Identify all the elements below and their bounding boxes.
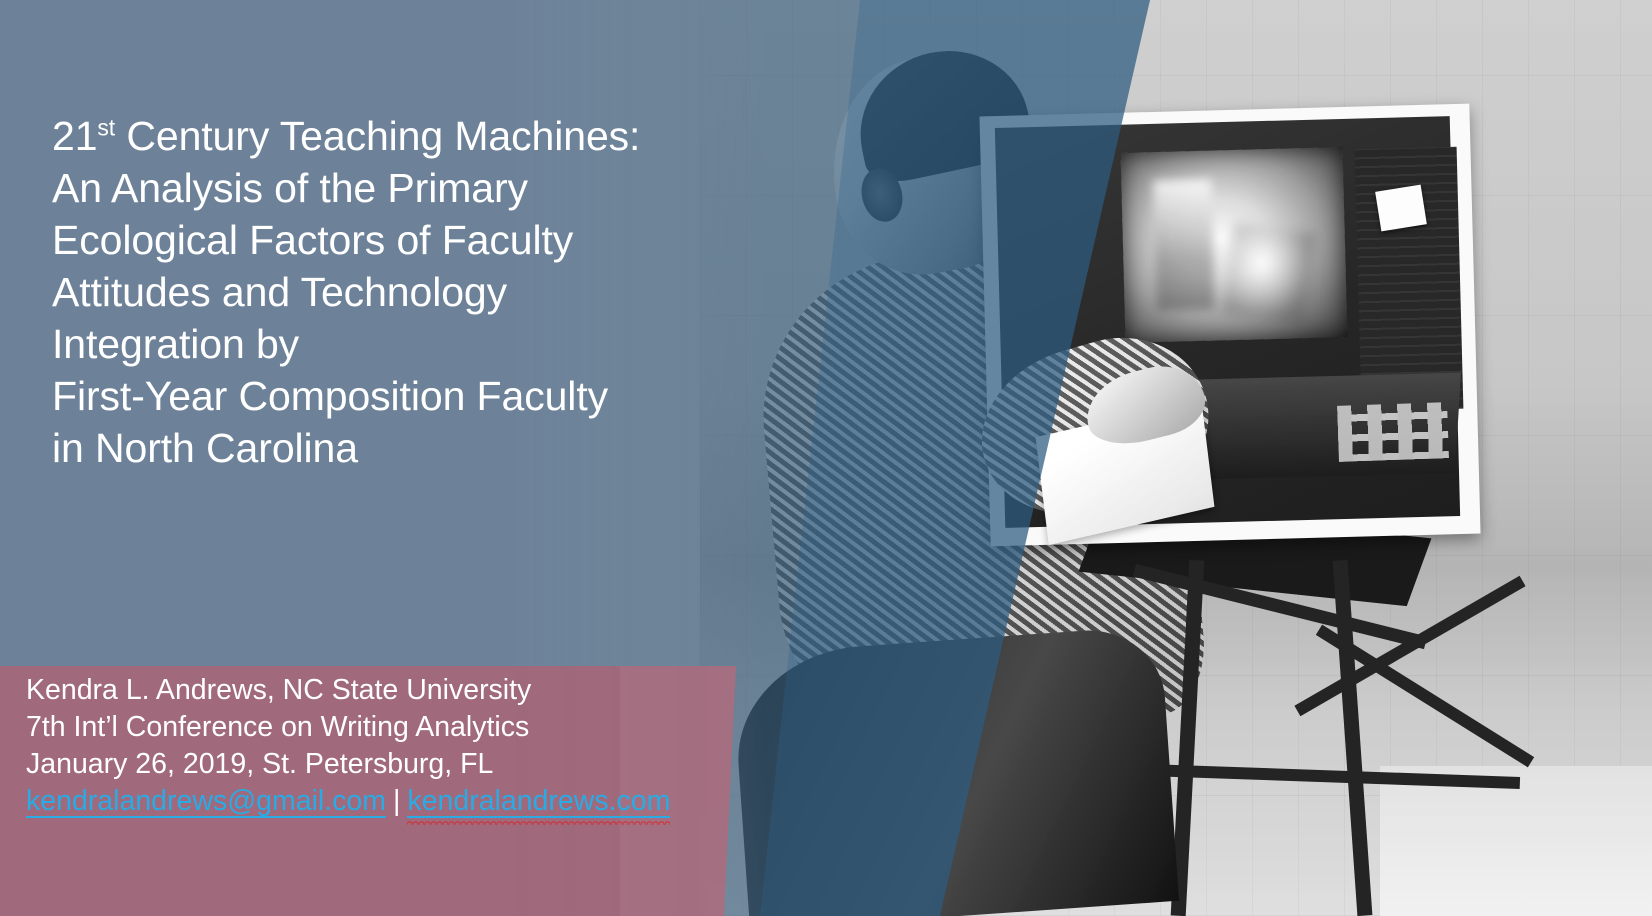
title-line-5: Integration by [52, 318, 712, 370]
photo-console-keys [1337, 402, 1449, 462]
title-line-7: in North Carolina [52, 422, 712, 474]
photo-crt-image-detail [1222, 223, 1316, 326]
title-line-1: 21st Century Teaching Machines: [52, 110, 712, 162]
credit-block: Kendra L. Andrews, NC State University 7… [26, 672, 726, 820]
title-line-2: An Analysis of the Primary [52, 162, 712, 214]
title-line-4: Attitudes and Technology [52, 266, 712, 318]
page-title: 21st Century Teaching Machines: An Analy… [52, 110, 712, 474]
author-affiliation: Kendra L. Andrews, NC State University [26, 672, 726, 709]
link-separator: | [386, 785, 407, 817]
photo-crt-image-figure [1153, 179, 1214, 310]
title-line-3: Ecological Factors of Faculty [52, 214, 712, 266]
title-line-1-pre: 21 [52, 113, 97, 159]
email-link[interactable]: kendralandrews@gmail.com [26, 783, 386, 820]
date-location: January 26, 2019, St. Petersburg, FL [26, 746, 726, 783]
photo-console-card [1375, 185, 1427, 232]
contact-links: kendralandrews@gmail.com|kendralandrews.… [26, 783, 726, 820]
conference-name: 7th Int’l Conference on Writing Analytic… [26, 709, 726, 746]
title-slide: 21st Century Teaching Machines: An Analy… [0, 0, 1652, 916]
title-line-6: First-Year Composition Faculty [52, 370, 712, 422]
title-line-1-post: Century Teaching Machines: [115, 113, 640, 159]
title-ordinal-suffix: st [97, 114, 115, 140]
website-link[interactable]: kendralandrews.com [407, 783, 670, 820]
photo-person-legs [731, 625, 1179, 916]
